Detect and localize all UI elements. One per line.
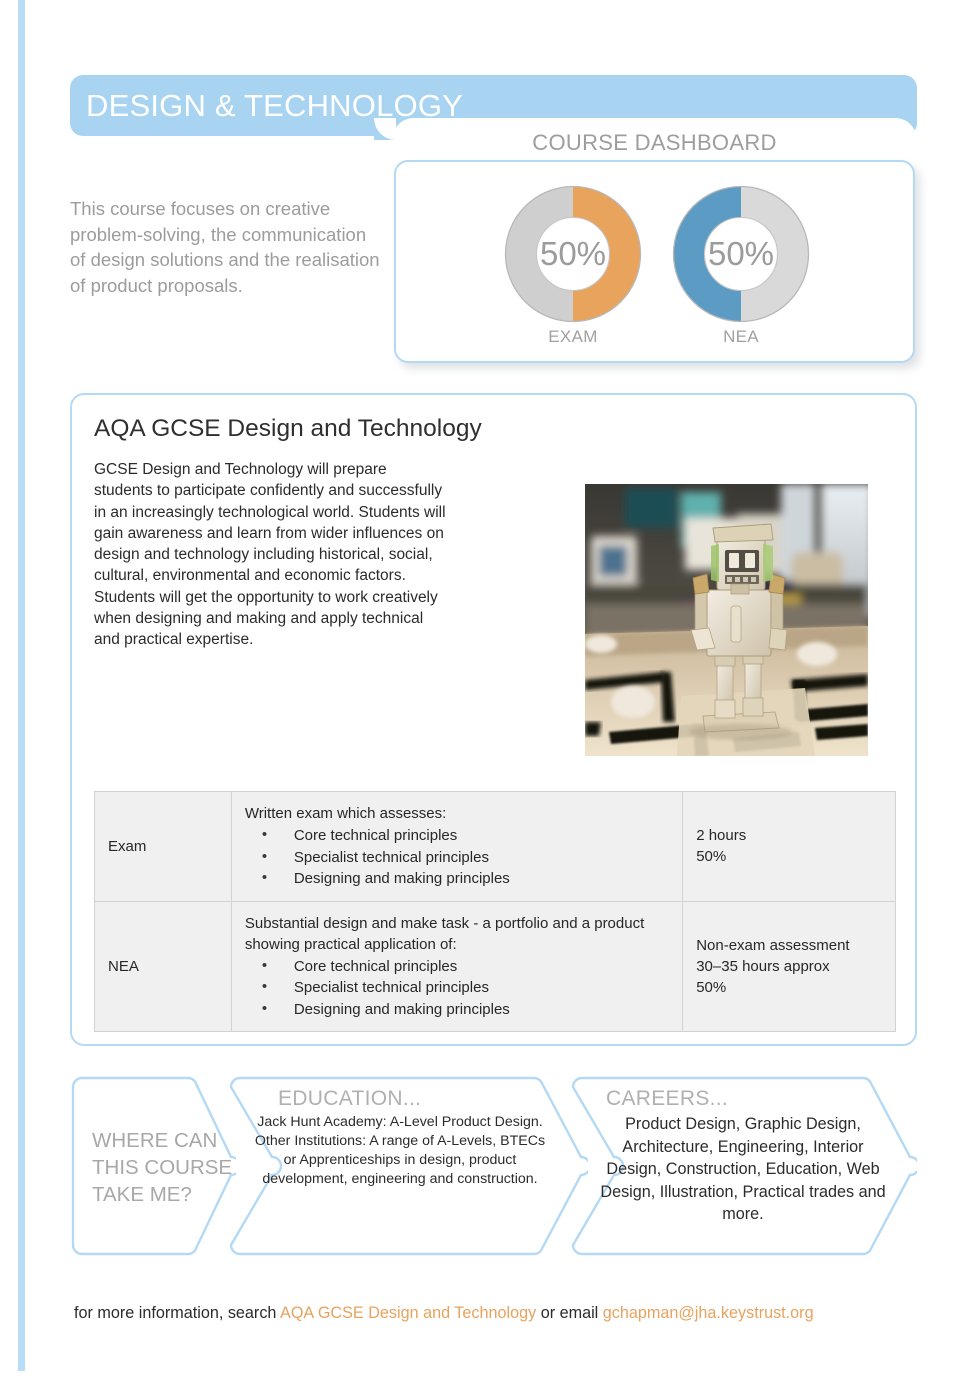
course-info-poster: DESIGN & TECHNOLOGY COURSE DASHBOARD 50%… [0, 0, 979, 1386]
list-item: Core technical principles [245, 956, 669, 978]
list-item: Designing and making principles [245, 868, 669, 890]
nea-gauge: 50% NEA [671, 184, 811, 347]
exam-gauge: 50% EXAM [503, 184, 643, 347]
exam-donut: 50% [503, 184, 643, 324]
education-kicker: EDUCATION... [278, 1087, 421, 1111]
careers-chevron: CAREERS... Product Design, Graphic Desig… [570, 1075, 917, 1257]
footer-search-term: AQA GCSE Design and Technology [280, 1304, 536, 1322]
careers-text: Product Design, Graphic Design, Architec… [598, 1113, 888, 1226]
list-item: Core technical principles [245, 825, 669, 847]
nea-donut: 50% [671, 184, 811, 324]
footer: for more information, search AQA GCSE De… [74, 1304, 814, 1323]
course-dashboard-card: 50% EXAM 50% NEA [394, 160, 915, 363]
careers-kicker: CAREERS... [606, 1087, 728, 1111]
table-row: NEA Substantial design and make task - a… [95, 901, 896, 1032]
assessment-table: Exam Written exam which assesses: Core t… [94, 791, 896, 1032]
intro-paragraph: This course focuses on creative problem-… [70, 196, 380, 298]
assessment-description: Substantial design and make task - a por… [231, 901, 682, 1032]
pathway-prompt-text: WHERE CAN THIS COURSE TAKE ME? [92, 1127, 242, 1208]
course-title: AQA GCSE Design and Technology [94, 415, 482, 443]
education-text: Jack Hunt Academy: A-Level Product Desig… [250, 1113, 550, 1189]
table-row: Exam Written exam which assesses: Core t… [95, 792, 896, 902]
assessment-description: Written exam which assesses: Core techni… [231, 792, 682, 902]
cardboard-robot-photo [585, 484, 868, 756]
dashboard-label: COURSE DASHBOARD [392, 130, 917, 156]
course-detail-card: AQA GCSE Design and Technology GCSE Desi… [70, 393, 917, 1046]
assessment-bullet-list: Core technical principles Specialist tec… [245, 956, 669, 1021]
assessment-name: NEA [95, 901, 232, 1032]
nea-gauge-label: NEA [671, 327, 811, 347]
list-item: Specialist technical principles [245, 977, 669, 999]
gauge-group: 50% EXAM 50% NEA [396, 162, 913, 361]
assessment-meta: Non-exam assessment 30–35 hours approx 5… [683, 901, 896, 1032]
footer-email-link[interactable]: gchapman@jha.keystrust.org [603, 1304, 814, 1322]
course-description: GCSE Design and Technology will prepare … [94, 459, 449, 651]
education-chevron: EDUCATION... Jack Hunt Academy: A-Level … [228, 1075, 588, 1257]
pathway-prompt-chevron: WHERE CAN THIS COURSE TAKE ME? [70, 1075, 236, 1257]
list-item: Specialist technical principles [245, 847, 669, 869]
footer-lead: for more information, search [74, 1304, 276, 1322]
assessment-meta: 2 hours 50% [683, 792, 896, 902]
exam-gauge-label: EXAM [503, 327, 643, 347]
nea-gauge-value: 50% [671, 184, 811, 324]
assessment-bullet-list: Core technical principles Specialist tec… [245, 825, 669, 890]
list-item: Designing and making principles [245, 999, 669, 1021]
footer-middle: or email [541, 1304, 599, 1322]
assessment-description-lead: Substantial design and make task - a por… [245, 913, 669, 955]
assessment-name: Exam [95, 792, 232, 902]
pathways-row: WHERE CAN THIS COURSE TAKE ME? EDUCATION… [0, 1075, 979, 1257]
exam-gauge-value: 50% [503, 184, 643, 324]
assessment-description-lead: Written exam which assesses: [245, 803, 669, 824]
